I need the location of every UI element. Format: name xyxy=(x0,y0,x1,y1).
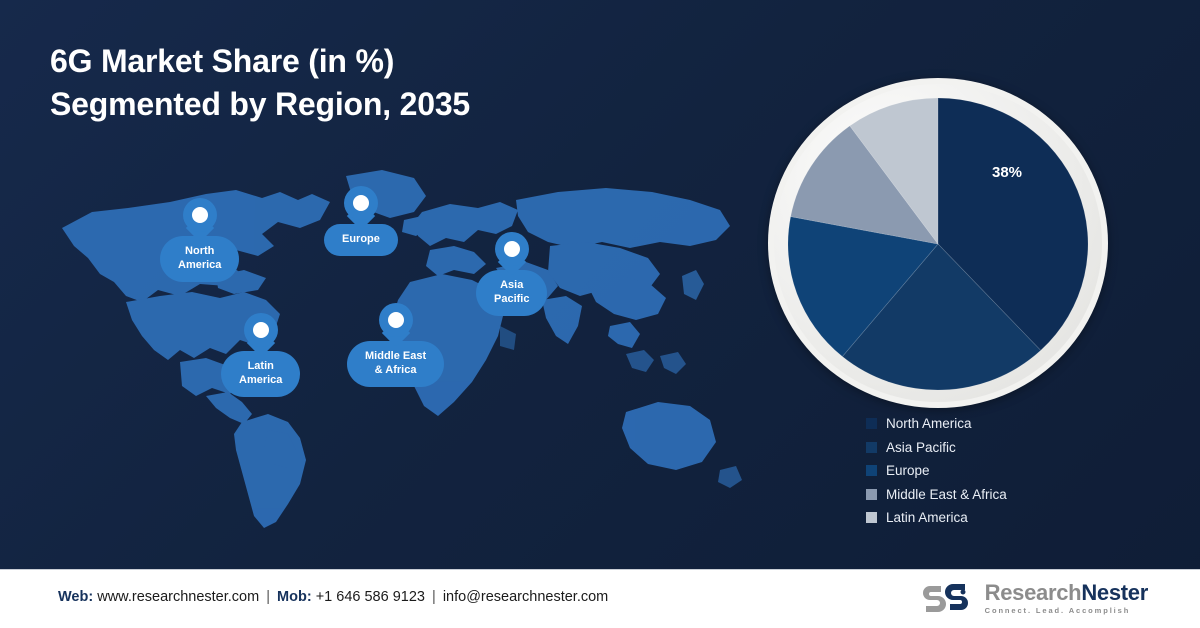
map-marker-middle-east-africa[interactable]: Middle East & Africa xyxy=(347,303,444,387)
footer-web-label: Web: xyxy=(58,589,93,605)
logo-word-nester: Nester xyxy=(1081,580,1148,605)
legend-item-north-america[interactable]: North America xyxy=(866,412,1007,436)
legend-swatch xyxy=(866,442,877,453)
pie-chart xyxy=(760,72,1122,412)
footer-mob-label: Mob: xyxy=(277,589,312,605)
location-pin-icon xyxy=(495,232,529,276)
legend-label: Asia Pacific xyxy=(886,440,956,455)
map-marker-north-america[interactable]: North America xyxy=(160,198,239,282)
map-marker-europe[interactable]: Europe xyxy=(324,186,398,256)
map-marker-label-latin-america: Latin America xyxy=(221,351,300,397)
legend-swatch xyxy=(866,465,877,476)
marker-line-1: Europe xyxy=(342,233,380,245)
marker-line-1: Asia xyxy=(500,279,523,291)
footer-email[interactable]: info@researchnester.com xyxy=(443,589,608,605)
marker-line-1: Latin xyxy=(248,360,274,372)
marker-line-1: North xyxy=(185,245,214,257)
logo-tagline: Connect. Lead. Accomplish xyxy=(985,607,1148,615)
location-pin-icon xyxy=(244,313,278,357)
footer-contact-text: Web: www.researchnester.com | Mob: +1 64… xyxy=(58,589,608,605)
legend-label: Latin America xyxy=(886,510,968,525)
location-pin-icon xyxy=(379,303,413,347)
legend-label: Europe xyxy=(886,463,930,478)
footer-bar: Web: www.researchnester.com | Mob: +1 64… xyxy=(0,569,1200,628)
title-line-1: 6G Market Share (in %) xyxy=(50,43,394,79)
location-pin-icon xyxy=(344,186,378,230)
logo-text: ResearchNester Connect. Lead. Accomplish xyxy=(985,582,1148,615)
legend-item-asia-pacific[interactable]: Asia Pacific xyxy=(866,436,1007,460)
logo-wordmark: ResearchNester xyxy=(985,582,1148,604)
title-line-2: Segmented by Region, 2035 xyxy=(50,83,610,126)
legend-label: North America xyxy=(886,416,972,431)
research-nester-logo[interactable]: ResearchNester Connect. Lead. Accomplish xyxy=(922,582,1148,615)
legend-swatch xyxy=(866,418,877,429)
legend-swatch xyxy=(866,512,877,523)
infographic-canvas: 6G Market Share (in %) Segmented by Regi… xyxy=(0,0,1200,628)
footer-separator-1: | xyxy=(263,589,273,605)
marker-line-2: Pacific xyxy=(494,293,529,307)
logo-word-research: Research xyxy=(985,580,1082,605)
map-marker-label-north-america: North America xyxy=(160,236,239,282)
marker-line-2: America xyxy=(178,259,221,273)
logo-brackets-icon xyxy=(922,583,976,613)
map-marker-label-asia-pacific: Asia Pacific xyxy=(476,270,547,316)
pie-slice-value-label: 38% xyxy=(992,164,1022,181)
legend-swatch xyxy=(866,489,877,500)
chart-legend: North AmericaAsia PacificEuropeMiddle Ea… xyxy=(866,412,1007,530)
map-marker-latin-america[interactable]: Latin America xyxy=(221,313,300,397)
marker-line-2: & Africa xyxy=(365,364,426,378)
map-marker-asia-pacific[interactable]: Asia Pacific xyxy=(476,232,547,316)
marker-line-2: America xyxy=(239,374,282,388)
pie-slices xyxy=(788,98,1088,390)
location-pin-icon xyxy=(183,198,217,242)
marker-line-1: Middle East xyxy=(365,350,426,362)
footer-web-value[interactable]: www.researchnester.com xyxy=(97,589,259,605)
map-marker-label-middle-east-africa: Middle East & Africa xyxy=(347,341,444,387)
page-title: 6G Market Share (in %) Segmented by Regi… xyxy=(50,40,610,125)
footer-mob-value: +1 646 586 9123 xyxy=(316,589,425,605)
legend-item-latin-america[interactable]: Latin America xyxy=(866,506,1007,530)
legend-item-middle-east-africa[interactable]: Middle East & Africa xyxy=(866,483,1007,507)
legend-label: Middle East & Africa xyxy=(886,487,1007,502)
legend-item-europe[interactable]: Europe xyxy=(866,459,1007,483)
footer-separator-2: | xyxy=(429,589,439,605)
